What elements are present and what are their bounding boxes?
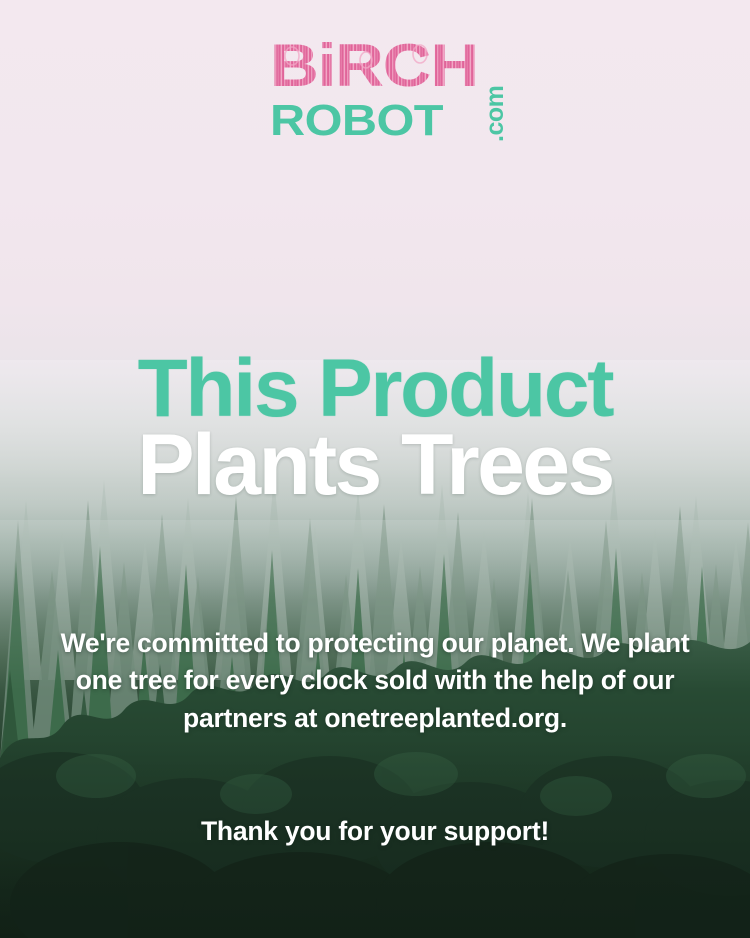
brand-logo-inner: BiRCH ROBOT .com: [270, 30, 480, 140]
logo-robot-row: ROBOT .com: [270, 94, 480, 140]
brand-logo[interactable]: BiRCH ROBOT .com: [0, 30, 750, 144]
logo-dotcom-suffix: .com: [480, 58, 510, 144]
logo-robot-wordmark: ROBOT: [270, 94, 445, 140]
thank-you-message: Thank you for your support!: [0, 816, 750, 847]
headline: This Product Plants Trees: [0, 348, 750, 508]
svg-text:.com: .com: [481, 86, 509, 142]
promo-poster: BiRCH ROBOT .com This Product Plants T: [0, 0, 750, 938]
logo-birch-wordmark: BiRCH: [270, 30, 480, 92]
body-paragraph: We're committed to protecting our planet…: [50, 625, 700, 738]
svg-text:BiRCH: BiRCH: [270, 32, 478, 92]
headline-line-2: Plants Trees: [0, 423, 750, 508]
svg-text:ROBOT: ROBOT: [270, 96, 444, 140]
